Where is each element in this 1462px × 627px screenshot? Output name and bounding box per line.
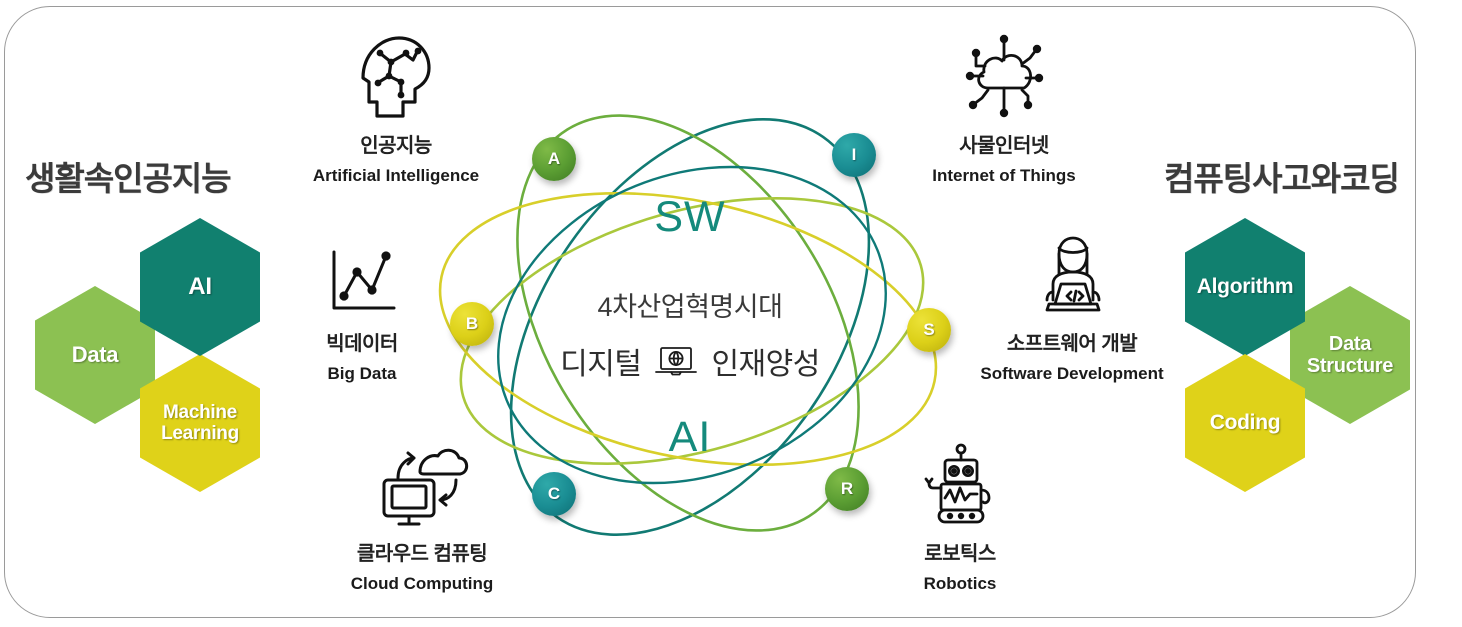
hexagon-data-structure[interactable]: DataStructure — [1290, 286, 1410, 424]
center-ai-label: AI — [420, 413, 960, 462]
hexagon-algorithm-label: Algorithm — [1197, 275, 1293, 299]
topic-cloud-english-label: Cloud Computing — [307, 574, 537, 594]
right-section-title: 컴퓨팅사고와코딩 — [1164, 152, 1399, 200]
orbit-node-r[interactable]: R — [825, 467, 869, 511]
hexagon-ai[interactable]: AI — [140, 218, 260, 356]
hexagon-algorithm[interactable]: Algorithm — [1185, 218, 1305, 356]
topic-robotics-english-label: Robotics — [845, 574, 1075, 594]
hexagon-coding-label: Coding — [1210, 411, 1281, 435]
topic-swdev-english-label: Software Development — [952, 364, 1192, 384]
center-line-2: 디지털 인재양성 — [420, 339, 960, 383]
hexagon-data-label: Data — [72, 343, 119, 368]
center-sw-label: SW — [420, 193, 960, 242]
topic-software-development[interactable]: 소프트웨어 개발 Software Development — [952, 226, 1192, 384]
center-line-1: 4차산업혁명시대 — [420, 285, 960, 324]
left-section-title: 생활속인공지능 — [25, 152, 231, 200]
orbit-node-s[interactable]: S — [907, 308, 951, 352]
right-hexagon-cluster: DataStructure Algorithm Coding — [1185, 234, 1445, 514]
hexagon-machine-learning[interactable]: MachineLearning — [140, 354, 260, 492]
hexagon-machine-learning-label: MachineLearning — [161, 402, 239, 445]
orbit-node-b[interactable]: B — [450, 302, 494, 346]
orbit-node-i[interactable]: I — [832, 133, 876, 177]
topic-swdev-korean-label: 소프트웨어 개발 — [952, 327, 1192, 356]
hexagon-data[interactable]: Data — [35, 286, 155, 424]
hexagon-data-structure-label: DataStructure — [1307, 333, 1393, 378]
hexagon-coding[interactable]: Coding — [1185, 354, 1305, 492]
orbit-node-a[interactable]: A — [532, 137, 576, 181]
developer-laptop-icon — [952, 226, 1192, 318]
orbit-node-c[interactable]: C — [532, 472, 576, 516]
orbital-diagram: SW 4차산업혁명시대 디지털 인재양성 AI A I B S C R — [420, 95, 960, 565]
center-line2-after: 인재양성 — [711, 339, 819, 383]
center-line2-before: 디지털 — [560, 339, 641, 383]
laptop-globe-icon — [653, 345, 699, 377]
hexagon-ai-label: AI — [188, 274, 211, 301]
orbit-rings — [420, 95, 960, 565]
infographic-canvas: 생활속인공지능 컴퓨팅사고와코딩 Data MachineLearning AI… — [0, 0, 1462, 627]
